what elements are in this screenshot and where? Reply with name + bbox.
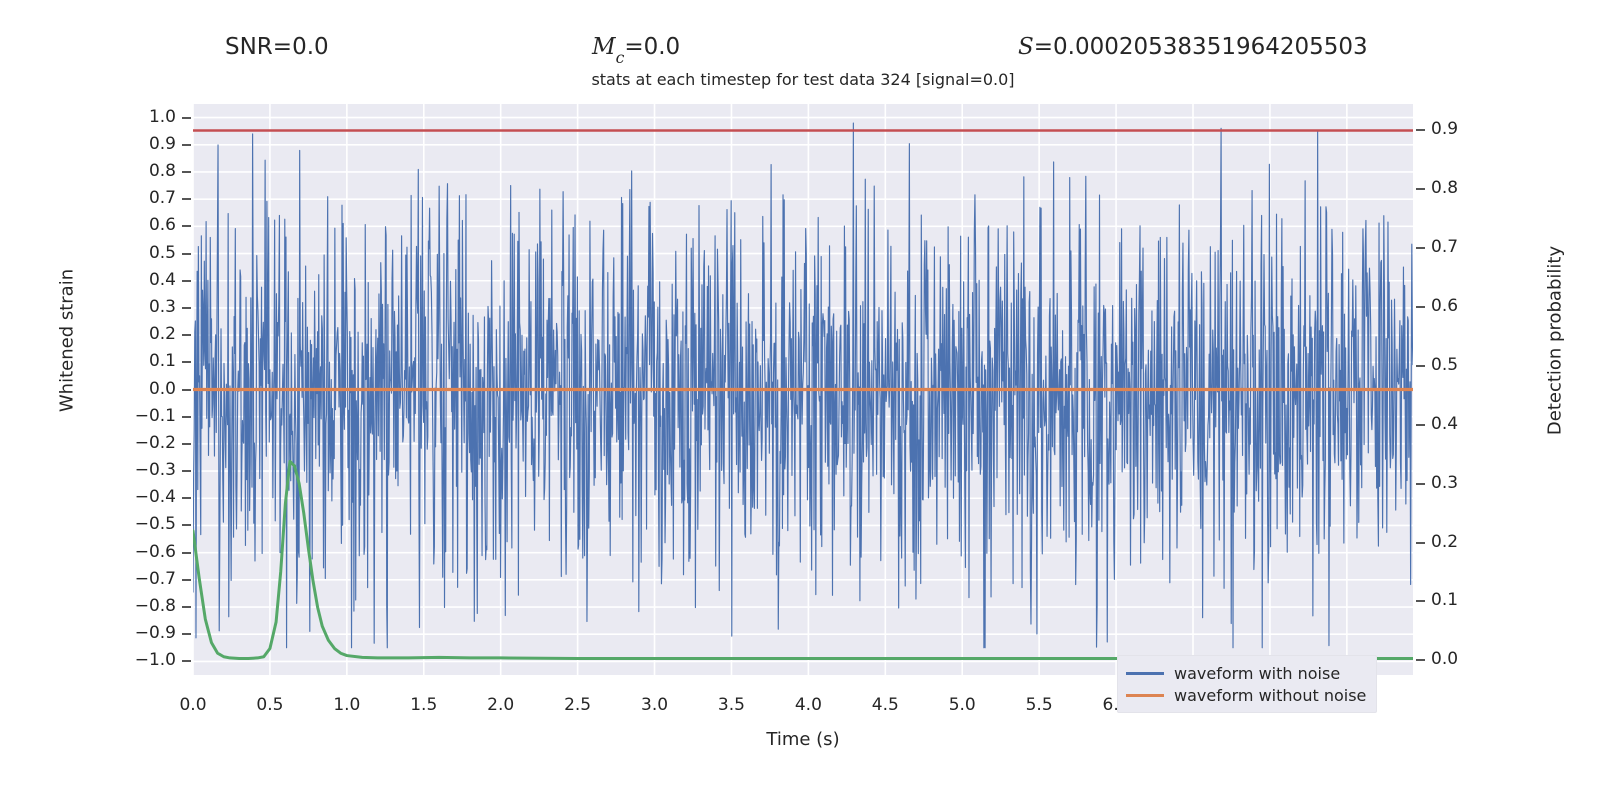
suptitle-mc-value: 0.0 (644, 34, 681, 60)
y-axis-left-label: Whitened strain (57, 241, 78, 441)
y-right-tickmark (1416, 483, 1425, 485)
y-left-ticklabel: −0.8 (106, 596, 176, 616)
y-left-tickmark (182, 389, 191, 391)
y-left-ticklabel: −0.4 (106, 487, 176, 507)
y-left-ticklabel: −0.5 (106, 514, 176, 534)
x-ticklabel: 5.5 (1009, 695, 1069, 715)
figure-canvas: SNR=0.0 Mc=0.0 S=0.00020538351964205503 … (0, 0, 1600, 800)
y-right-tickmark (1416, 129, 1425, 131)
y-left-tickmark (182, 552, 191, 554)
y-right-ticklabel: 0.9 (1431, 119, 1501, 139)
y-right-ticklabel: 0.8 (1431, 178, 1501, 198)
y-left-tickmark (182, 171, 191, 173)
suptitle-chirp-mass: Mc=0.0 (592, 34, 680, 64)
y-left-tickmark (182, 225, 191, 227)
suptitle-snr-value: 0.0 (292, 34, 329, 60)
y-right-ticklabel: 0.4 (1431, 414, 1501, 434)
y-right-ticklabel: 0.2 (1431, 532, 1501, 552)
y-left-tickmark (182, 470, 191, 472)
x-ticklabel: 1.0 (317, 695, 377, 715)
x-ticklabel: 1.5 (394, 695, 454, 715)
suptitle-mc-subscript: c (616, 48, 625, 67)
y-left-ticklabel: −0.9 (106, 623, 176, 643)
y-right-tickmark (1416, 424, 1425, 426)
y-left-ticklabel: −0.2 (106, 433, 176, 453)
y-left-ticklabel: −0.1 (106, 406, 176, 426)
y-left-tickmark (182, 117, 191, 119)
x-ticklabel: 3.5 (701, 695, 761, 715)
y-left-ticklabel: 0.8 (106, 161, 176, 181)
y-left-ticklabel: 0.4 (106, 270, 176, 290)
y-right-tickmark (1416, 365, 1425, 367)
y-left-ticklabel: −1.0 (106, 650, 176, 670)
x-ticklabel: 2.0 (471, 695, 531, 715)
x-ticklabel: 0.5 (240, 695, 300, 715)
y-left-ticklabel: 0.3 (106, 297, 176, 317)
y-left-ticklabel: −0.3 (106, 460, 176, 480)
x-ticklabel: 4.5 (855, 695, 915, 715)
y-axis-right-label: Detection probability (1545, 216, 1566, 466)
y-left-tickmark (182, 606, 191, 608)
y-left-ticklabel: 0.0 (106, 379, 176, 399)
y-right-tickmark (1416, 542, 1425, 544)
y-left-tickmark (182, 334, 191, 336)
data-series-layer (193, 123, 1413, 658)
plot-area (193, 104, 1413, 675)
y-right-ticklabel: 0.0 (1431, 649, 1501, 669)
legend-swatch-without-noise (1126, 694, 1164, 697)
y-right-tickmark (1416, 600, 1425, 602)
y-right-tickmark (1416, 659, 1425, 661)
y-left-ticklabel: 0.6 (106, 215, 176, 235)
suptitle-s-equals: = (1034, 34, 1053, 60)
y-left-tickmark (182, 660, 191, 662)
y-right-ticklabel: 0.7 (1431, 237, 1501, 257)
suptitle-s-symbol: S (1018, 34, 1034, 60)
y-right-tickmark (1416, 188, 1425, 190)
x-ticklabel: 3.0 (625, 695, 685, 715)
x-ticklabel: 2.5 (548, 695, 608, 715)
suptitle-statistic: S=0.00020538351964205503 (1018, 34, 1368, 60)
y-left-tickmark (182, 497, 191, 499)
y-left-ticklabel: 0.5 (106, 243, 176, 263)
y-left-ticklabel: 1.0 (106, 107, 176, 127)
y-left-tickmark (182, 253, 191, 255)
plot-svg (193, 104, 1413, 675)
y-right-tickmark (1416, 247, 1425, 249)
x-ticklabel: 4.0 (778, 695, 838, 715)
y-left-tickmark (182, 307, 191, 309)
y-left-tickmark (182, 144, 191, 146)
y-right-tickmark (1416, 306, 1425, 308)
y-left-ticklabel: 0.1 (106, 351, 176, 371)
x-ticklabel: 0.0 (163, 695, 223, 715)
y-right-ticklabel: 0.3 (1431, 473, 1501, 493)
y-left-tickmark (182, 361, 191, 363)
suptitle-mc-equals: = (624, 34, 643, 60)
y-left-ticklabel: −0.6 (106, 542, 176, 562)
y-left-tickmark (182, 579, 191, 581)
y-left-ticklabel: 0.9 (106, 134, 176, 154)
suptitle-mc-symbol: M (592, 34, 616, 60)
legend-label-with-noise: waveform with noise (1174, 664, 1340, 683)
legend-item-without-noise[interactable]: waveform without noise (1126, 684, 1366, 706)
suptitle-s-value: 0.00020538351964205503 (1053, 34, 1368, 60)
y-left-tickmark (182, 416, 191, 418)
suptitle-snr-label: SNR= (225, 34, 292, 60)
y-right-ticklabel: 0.1 (1431, 590, 1501, 610)
legend-label-without-noise: waveform without noise (1174, 686, 1366, 705)
x-ticklabel: 5.0 (932, 695, 992, 715)
legend[interactable]: waveform with noise waveform without noi… (1117, 655, 1377, 713)
x-axis-label: Time (s) (193, 729, 1413, 750)
y-left-ticklabel: 0.2 (106, 324, 176, 344)
y-right-ticklabel: 0.5 (1431, 355, 1501, 375)
legend-swatch-with-noise (1126, 672, 1164, 675)
y-left-tickmark (182, 443, 191, 445)
legend-item-with-noise[interactable]: waveform with noise (1126, 662, 1366, 684)
y-left-tickmark (182, 280, 191, 282)
suptitle-row: SNR=0.0 Mc=0.0 S=0.00020538351964205503 (0, 34, 1600, 68)
y-right-ticklabel: 0.6 (1431, 296, 1501, 316)
y-left-ticklabel: 0.7 (106, 188, 176, 208)
axes-title: stats at each timestep for test data 324… (193, 70, 1413, 89)
y-left-ticklabel: −0.7 (106, 569, 176, 589)
suptitle-snr: SNR=0.0 (225, 34, 329, 60)
y-left-tickmark (182, 633, 191, 635)
y-left-tickmark (182, 198, 191, 200)
y-left-tickmark (182, 524, 191, 526)
